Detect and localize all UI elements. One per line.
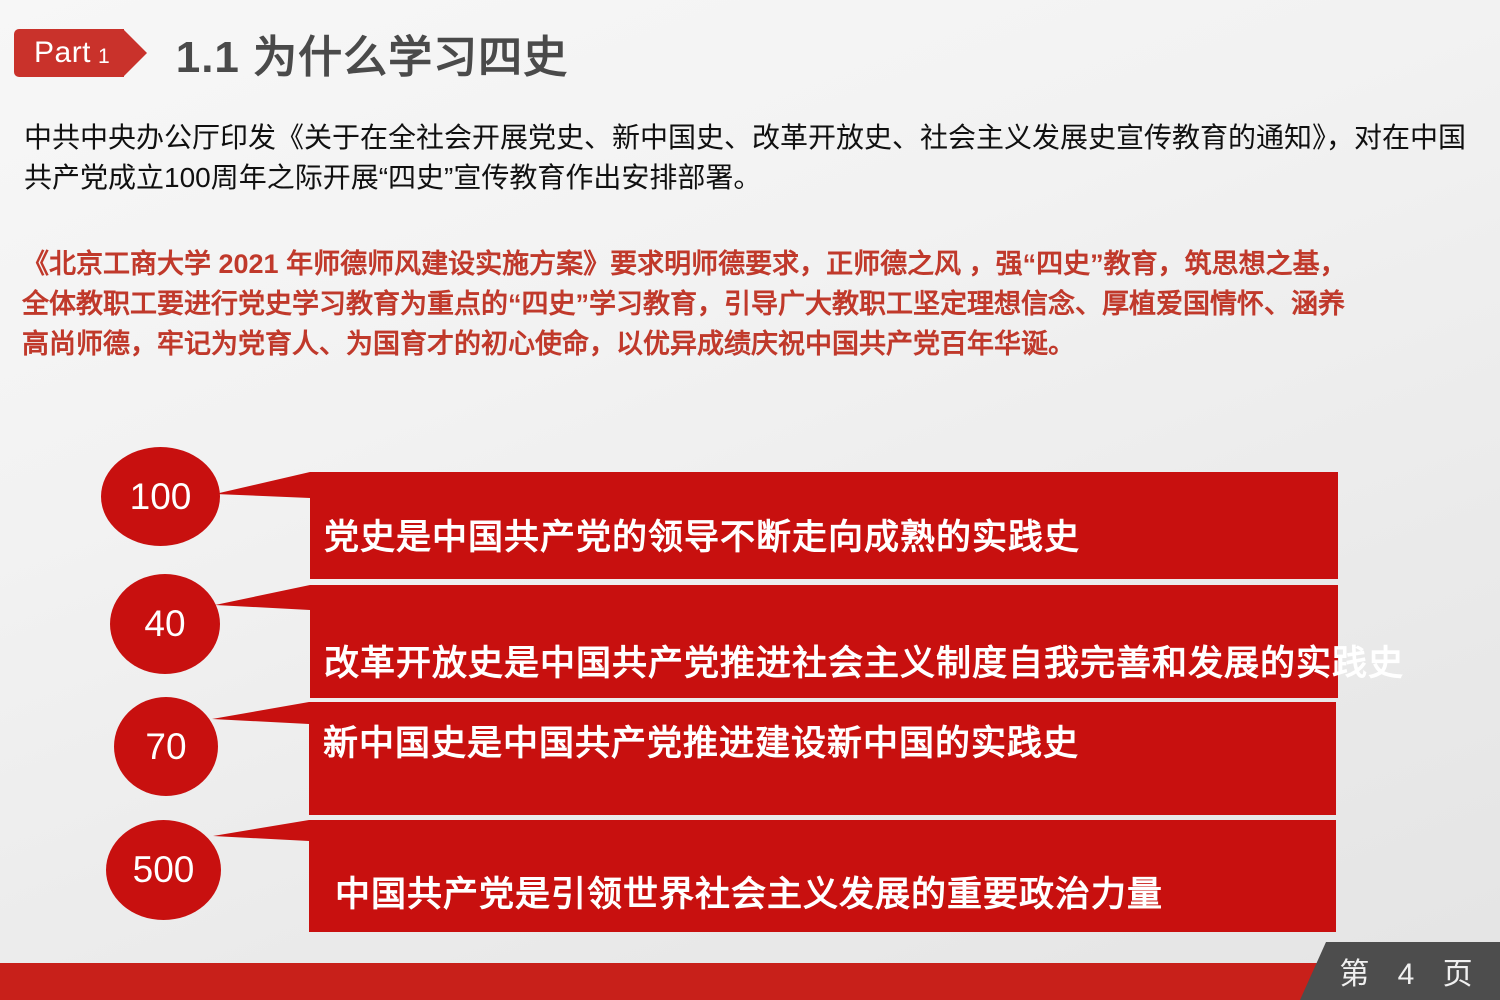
callout-bar-3[interactable]: 新中国史是中国共产党推进建设新中国的实践史 (309, 702, 1336, 815)
callout-pointer-2 (215, 585, 310, 610)
slide-canvas: Part 1 1.1 为什么学习四史 中共中央办公厅印发《关于在全社会开展党史、… (0, 0, 1500, 1000)
callout-list: 100 党史是中国共产党的领导不断走向成熟的实践史 40 改革开放史是中国共产党… (0, 0, 1500, 1000)
callout-bubble-3[interactable]: 70 (114, 697, 218, 796)
callout-text-4: 中国共产党是引领世界社会主义发展的重要政治力量 (335, 866, 1163, 917)
footer-accent-bar (0, 963, 1330, 1000)
callout-bubble-4[interactable]: 500 (106, 820, 221, 920)
callout-bar-2[interactable]: 改革开放史是中国共产党推进社会主义制度自我完善和发展的实践史 (310, 585, 1338, 698)
callout-pointer-4 (213, 820, 309, 841)
page-number-badge: 第 4 页 (1300, 942, 1500, 1000)
callout-text-3: 新中国史是中国共产党推进建设新中国的实践史 (323, 715, 1079, 766)
callout-bubble-2[interactable]: 40 (110, 574, 220, 674)
callout-text-2: 改革开放史是中国共产党推进社会主义制度自我完善和发展的实践史 (324, 635, 1404, 686)
callout-bubble-1[interactable]: 100 (101, 447, 220, 546)
callout-pointer-3 (212, 702, 309, 724)
callout-text-1: 党史是中国共产党的领导不断走向成熟的实践史 (324, 509, 1080, 560)
page-number-label: 第 4 页 (1339, 949, 1482, 993)
callout-bar-4[interactable]: 中国共产党是引领世界社会主义发展的重要政治力量 (309, 820, 1336, 932)
callout-pointer-1 (215, 472, 310, 498)
callout-bar-1[interactable]: 党史是中国共产党的领导不断走向成熟的实践史 (310, 472, 1338, 579)
